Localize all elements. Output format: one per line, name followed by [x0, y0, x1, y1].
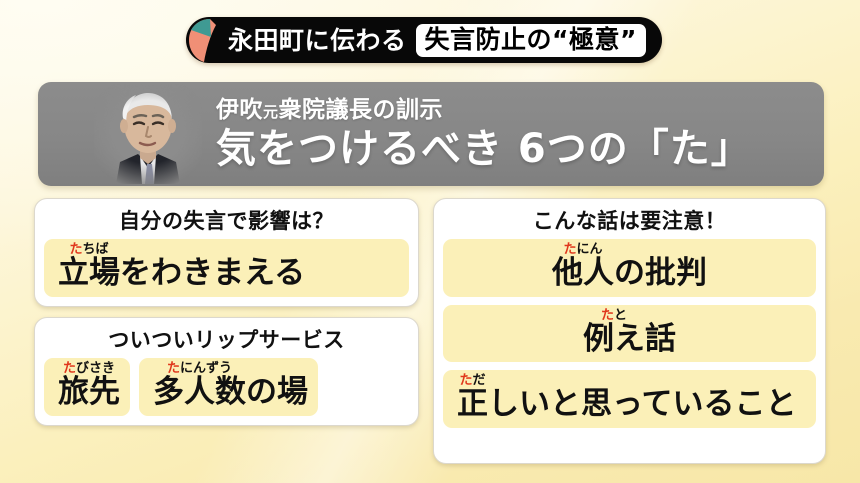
phrase-base: 他人	[552, 257, 614, 290]
page-title: 気をつけるべき 6つの「た」	[216, 127, 752, 171]
right-column: こんな話は要注意！ たにん 他人 の批判 たと 例え 話	[433, 198, 826, 464]
phrase-base: 立場	[58, 257, 120, 290]
phrase-base: 旅先	[58, 376, 120, 409]
ruby-group: たびさき 旅先	[58, 362, 120, 409]
phrase-box-tatoebanashi: たと 例え 話	[443, 305, 816, 363]
card-caution-topics: こんな話は要注意！ たにん 他人 の批判 たと 例え 話	[433, 198, 826, 464]
header-bar: 伊吹元衆院議長の訓示 気をつけるべき 6つの「た」	[38, 82, 824, 186]
card-self-impact: 自分の失言で影響は？ たちば 立場 をわきまえる	[34, 198, 419, 307]
phrase-suffix: 話	[645, 323, 676, 356]
phrase-base: 多人数	[153, 376, 246, 409]
leaf-brush-icon	[184, 16, 232, 64]
ruby-group: たちば 立場	[58, 243, 120, 290]
header-subtitle: 伊吹元衆院議長の訓示	[216, 97, 752, 123]
phrase-box-tabisaki: たびさき 旅先	[44, 358, 130, 416]
ruby-group: たにんずう 多人数	[153, 362, 246, 409]
card-title: ついついリップサービス	[44, 325, 409, 358]
top-banner: 永田町に伝わる 失言防止の“極意”	[186, 17, 662, 63]
ruby-text: たと	[601, 309, 627, 322]
phrase-base: 正	[457, 388, 488, 421]
ruby-group: たにん 他人	[552, 243, 614, 290]
banner-title: 永田町に伝わる	[228, 28, 407, 53]
phrase-suffix: しいと思っていること	[488, 388, 796, 421]
header-subtitle-small: 元	[263, 103, 279, 121]
phrase-box-tanin: たにん 他人 の批判	[443, 239, 816, 297]
phrase-suffix: をわきまえる	[120, 257, 305, 290]
banner-highlight-chip: 失言防止の“極意”	[416, 24, 646, 57]
phrase-box-tadashii: ただ 正 しいと思っていること	[443, 370, 816, 428]
card-lip-service: ついついリップサービス たびさき 旅先 たにんずう 多人数	[34, 317, 419, 426]
card-title: こんな話は要注意！	[443, 206, 816, 239]
phrase-box-tachiba: たちば 立場 をわきまえる	[44, 239, 409, 297]
phrase-suffix: の場	[246, 376, 308, 409]
ibuki-portrait	[94, 84, 202, 184]
header-subtitle-pre: 伊吹	[216, 97, 263, 123]
phrase-box-taninzu: たにんずう 多人数 の場	[139, 358, 318, 416]
ruby-group: たと 例え	[583, 309, 645, 356]
phrase-base: 例え	[583, 323, 645, 356]
phrase-suffix: の批判	[614, 257, 707, 290]
ruby-group: ただ 正	[457, 374, 488, 421]
card-title: 自分の失言で影響は？	[44, 206, 409, 239]
header-subtitle-post: 衆院議長の訓示	[279, 97, 444, 123]
left-column: 自分の失言で影響は？ たちば 立場 をわきまえる ついついリップサービス	[34, 198, 419, 464]
content-columns: 自分の失言で影響は？ たちば 立場 をわきまえる ついついリップサービス	[34, 198, 826, 464]
